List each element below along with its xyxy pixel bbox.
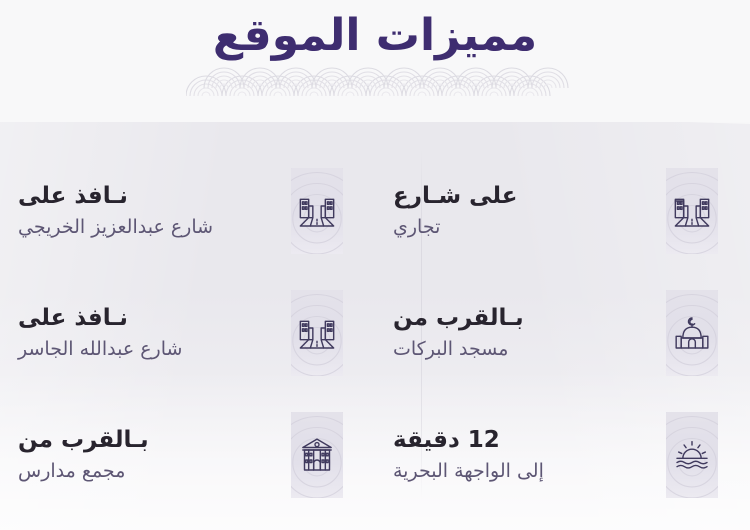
feature-primary-label: 12 دقيقة xyxy=(393,426,500,456)
feature-item-abdullah-aljasser-street[interactable]: نـافذ على شارع عبدالله الجاسر xyxy=(0,272,375,394)
feature-item-commercial-street[interactable]: على شـارع تجاري xyxy=(375,150,750,272)
feature-text-block: بـالقرب من مسجد البركات xyxy=(393,304,652,363)
school-building-icon xyxy=(297,435,337,475)
page-title: مميزات الموقع xyxy=(0,8,750,63)
feature-text-block: بـالقرب من مجمع مدارس xyxy=(18,426,277,485)
feature-text-block: نـافذ على شارع عبدالله الجاسر xyxy=(18,304,277,363)
icon-tile xyxy=(666,168,718,254)
decorative-arc-band-icon xyxy=(186,62,572,106)
feature-text-block: نـافذ على شارع عبدالعزيز الخريجي xyxy=(18,182,277,241)
feature-primary-label: بـالقرب من xyxy=(393,304,524,334)
feature-secondary-label: مسجد البركات xyxy=(393,337,508,363)
feature-secondary-label: تجاري xyxy=(393,215,440,241)
features-grid: على شـارع تجاري xyxy=(0,150,750,520)
feature-secondary-label: شارع عبدالله الجاسر xyxy=(18,337,182,363)
feature-primary-label: نـافذ على xyxy=(18,182,128,212)
icon-tile xyxy=(291,412,343,498)
sunset-sea-icon xyxy=(672,435,712,475)
street-buildings-icon xyxy=(297,191,337,231)
feature-secondary-label: شارع عبدالعزيز الخريجي xyxy=(18,215,213,241)
infographic-canvas: مميزات الموقع xyxy=(0,0,750,530)
feature-primary-label: نـافذ على xyxy=(18,304,128,334)
feature-secondary-label: إلى الواجهة البحرية xyxy=(393,459,544,485)
feature-primary-label: بـالقرب من xyxy=(18,426,149,456)
icon-tile xyxy=(291,168,343,254)
feature-item-schools-complex[interactable]: بـالقرب من مجمع مدارس xyxy=(0,394,375,516)
feature-item-albarakat-mosque[interactable]: بـالقرب من مسجد البركات xyxy=(375,272,750,394)
feature-text-block: 12 دقيقة إلى الواجهة البحرية xyxy=(393,426,652,485)
icon-tile xyxy=(666,412,718,498)
feature-text-block: على شـارع تجاري xyxy=(393,182,652,241)
street-buildings-icon xyxy=(297,313,337,353)
mosque-icon xyxy=(672,313,712,353)
feature-secondary-label: مجمع مدارس xyxy=(18,459,125,485)
feature-item-waterfront-12-minutes[interactable]: 12 دقيقة إلى الواجهة البحرية xyxy=(375,394,750,516)
street-buildings-icon xyxy=(672,191,712,231)
icon-tile xyxy=(666,290,718,376)
feature-primary-label: على شـارع xyxy=(393,182,517,212)
icon-tile xyxy=(291,290,343,376)
feature-item-abdulaziz-alkhuraiji-street[interactable]: نـافذ على شارع عبدالعزيز الخريجي xyxy=(0,150,375,272)
